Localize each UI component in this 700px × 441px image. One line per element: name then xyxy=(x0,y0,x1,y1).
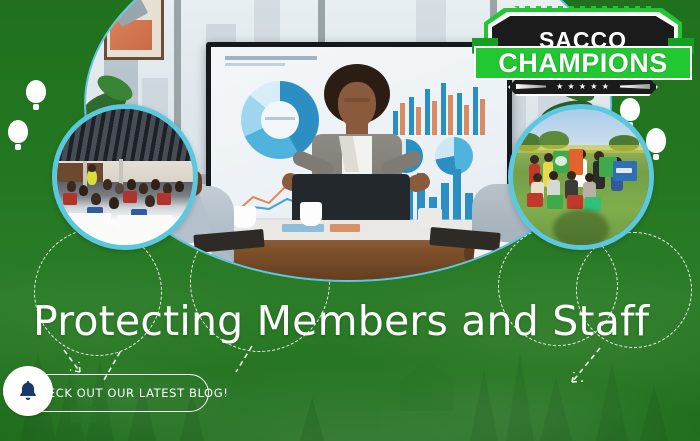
poster-canvas: SACCO CHAMPIONS ★ ★ ★ ★ ★ Protecting Mem… xyxy=(0,0,700,441)
balloon-marker-left-top xyxy=(26,80,46,110)
photo-conference-hall xyxy=(52,104,198,250)
bell-icon xyxy=(3,366,53,416)
sacco-champions-logo[interactable]: SACCO CHAMPIONS ★ ★ ★ ★ ★ xyxy=(474,8,692,104)
photo-outdoor-group xyxy=(508,104,654,250)
latest-blog-cta-label: CHECK OUT OUR LATEST BLOG! xyxy=(30,374,228,412)
page-title: Protecting Members and Staff xyxy=(33,296,649,346)
balloon-marker-left-bottom xyxy=(8,120,28,150)
logo-champions-text: CHAMPIONS xyxy=(474,46,692,80)
